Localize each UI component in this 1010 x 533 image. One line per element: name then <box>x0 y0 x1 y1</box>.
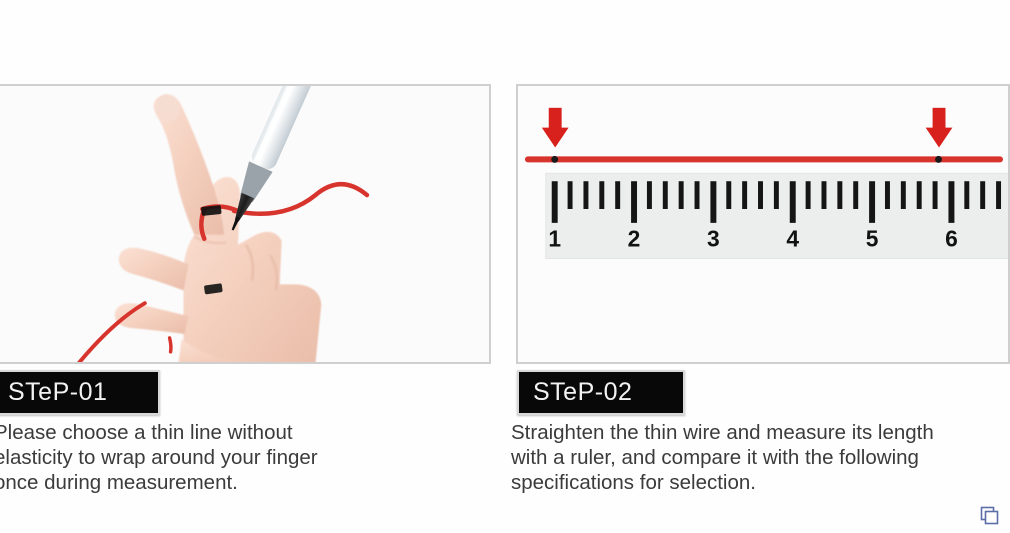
step-2-description: Straighten the thin wire and measure its… <box>511 420 981 495</box>
step-2-badge-label: STeP-02 <box>533 378 632 407</box>
step-1-badge: STeP-01 <box>0 370 160 415</box>
ruler-label-6: 6 <box>945 226 958 252</box>
hand-with-thread-and-pen-illustration <box>0 86 489 364</box>
steps-container: STeP-01 Please choose a thin line withou… <box>0 0 1010 533</box>
duplicate-icon[interactable] <box>980 506 1000 526</box>
step-2-figure: 1 2 3 4 5 6 <box>516 84 1010 364</box>
ruler-label-5: 5 <box>866 226 879 252</box>
ruler-label-4: 4 <box>786 226 799 252</box>
step-card-1: STeP-01 Please choose a thin line withou… <box>0 84 491 495</box>
step-2-badge-row: STeP-02 <box>516 364 1010 416</box>
ruler-label-3: 3 <box>707 226 720 252</box>
step-2-badge: STeP-02 <box>517 370 685 415</box>
step-1-badge-label: STeP-01 <box>8 378 107 407</box>
step-1-description: Please choose a thin line without elasti… <box>0 420 394 495</box>
step-1-badge-row: STeP-01 <box>0 364 491 416</box>
step-1-figure <box>0 84 491 364</box>
ruler-label-2: 2 <box>628 226 641 252</box>
thread-end-start <box>551 156 558 163</box>
ruler-measuring-thread-illustration: 1 2 3 4 5 6 <box>518 86 1008 364</box>
ruler-label-1: 1 <box>548 226 561 252</box>
step-card-2: 1 2 3 4 5 6 <box>516 84 1010 495</box>
page-canvas: STeP-01 Please choose a thin line withou… <box>0 0 1010 533</box>
thread-end-finish <box>935 156 942 163</box>
